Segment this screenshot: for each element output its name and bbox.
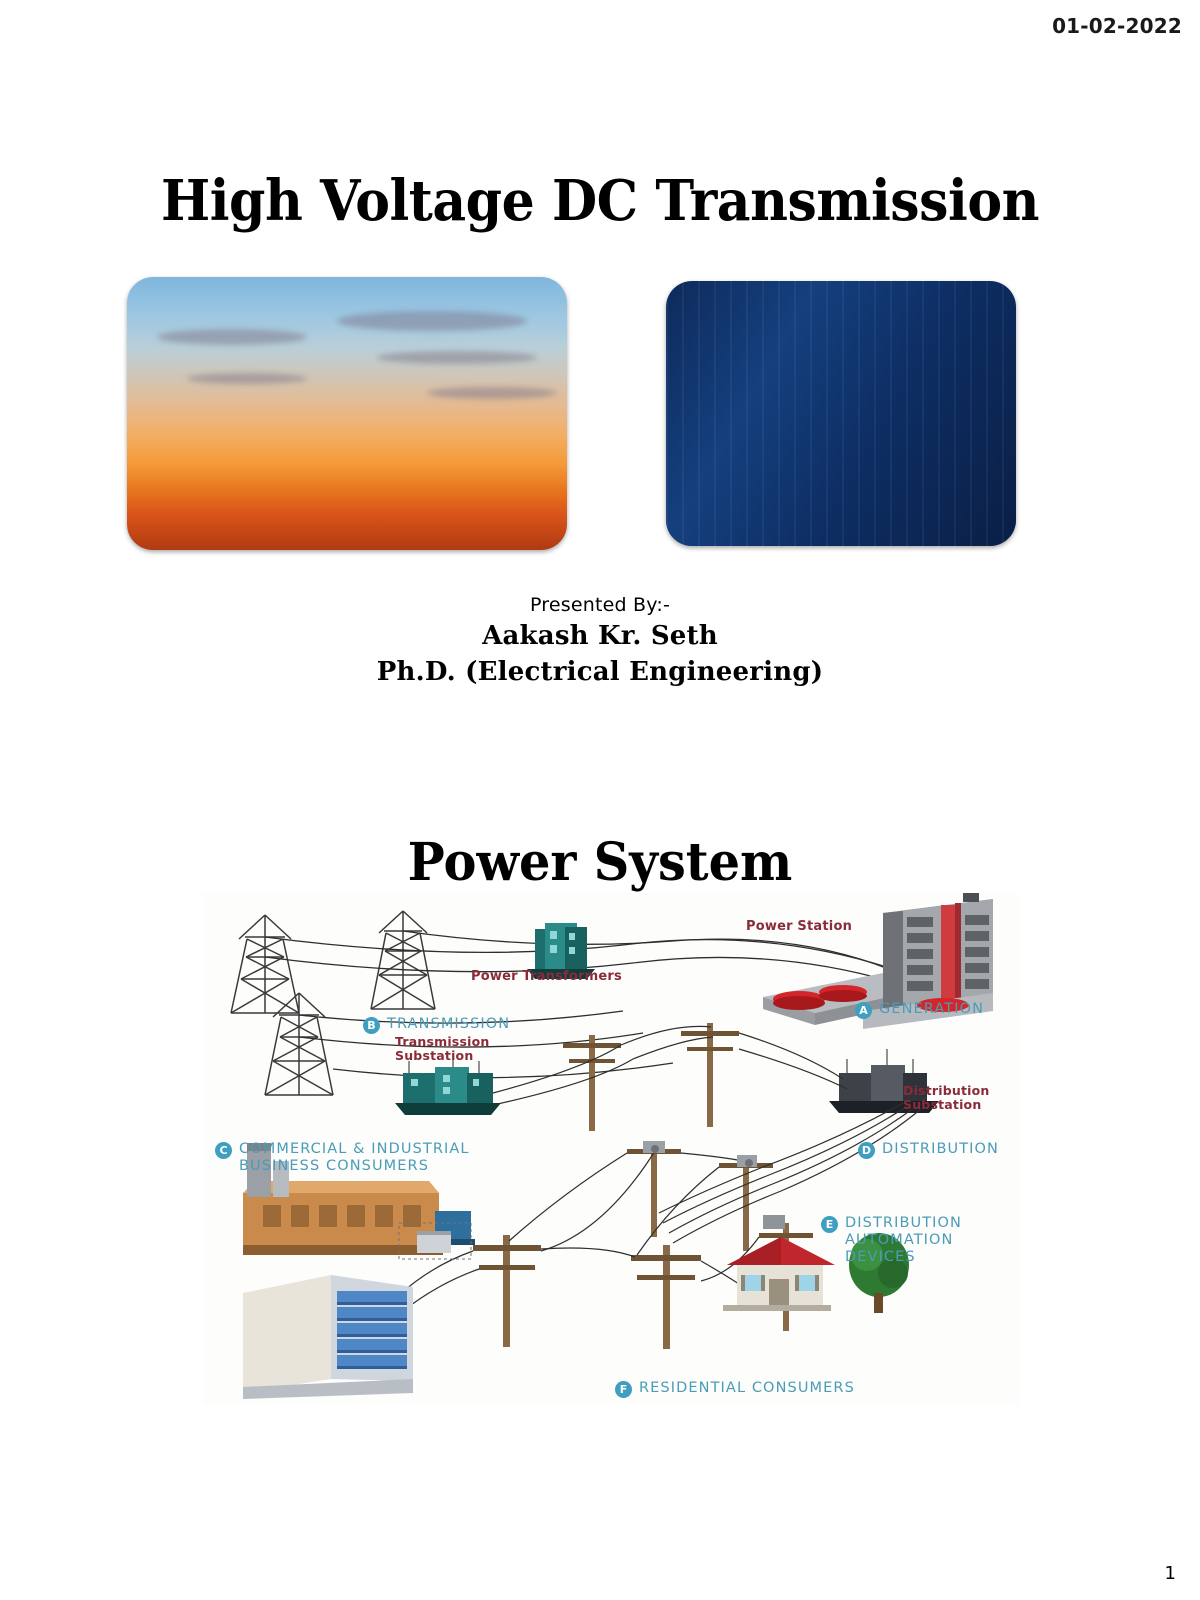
- presenter-block: Presented By:- Aakash Kr. Seth Ph.D. (El…: [0, 592, 1200, 690]
- cloud-shape: [427, 387, 557, 399]
- cloud-shape: [377, 351, 537, 364]
- presenter-degree: Ph.D. (Electrical Engineering): [0, 654, 1200, 690]
- page-title: High Voltage DC Transmission: [42, 168, 1158, 234]
- presenter-name: Aakash Kr. Seth: [0, 618, 1200, 654]
- cloud-shape: [187, 373, 307, 384]
- power-system-overview-diagram: Power Station Power Transformers Transmi…: [203, 893, 1019, 1405]
- section-title: Power System: [30, 832, 1170, 893]
- transmission-towers-sunset-photo: [127, 277, 567, 550]
- slide-date: 01-02-2022: [1052, 14, 1182, 38]
- diagram-artwork: [203, 893, 1019, 1405]
- presentation-slide: 01-02-2022 High Voltage DC Transmission: [0, 0, 1200, 1600]
- substation-transformer-photo: [666, 281, 1016, 546]
- photo-row: [0, 277, 1200, 552]
- cloud-shape: [157, 329, 307, 345]
- substation-hall-background: [666, 281, 1016, 546]
- cloud-shape: [337, 311, 527, 331]
- presented-by-label: Presented By:-: [0, 592, 1200, 618]
- page-number: 1: [1165, 1563, 1176, 1584]
